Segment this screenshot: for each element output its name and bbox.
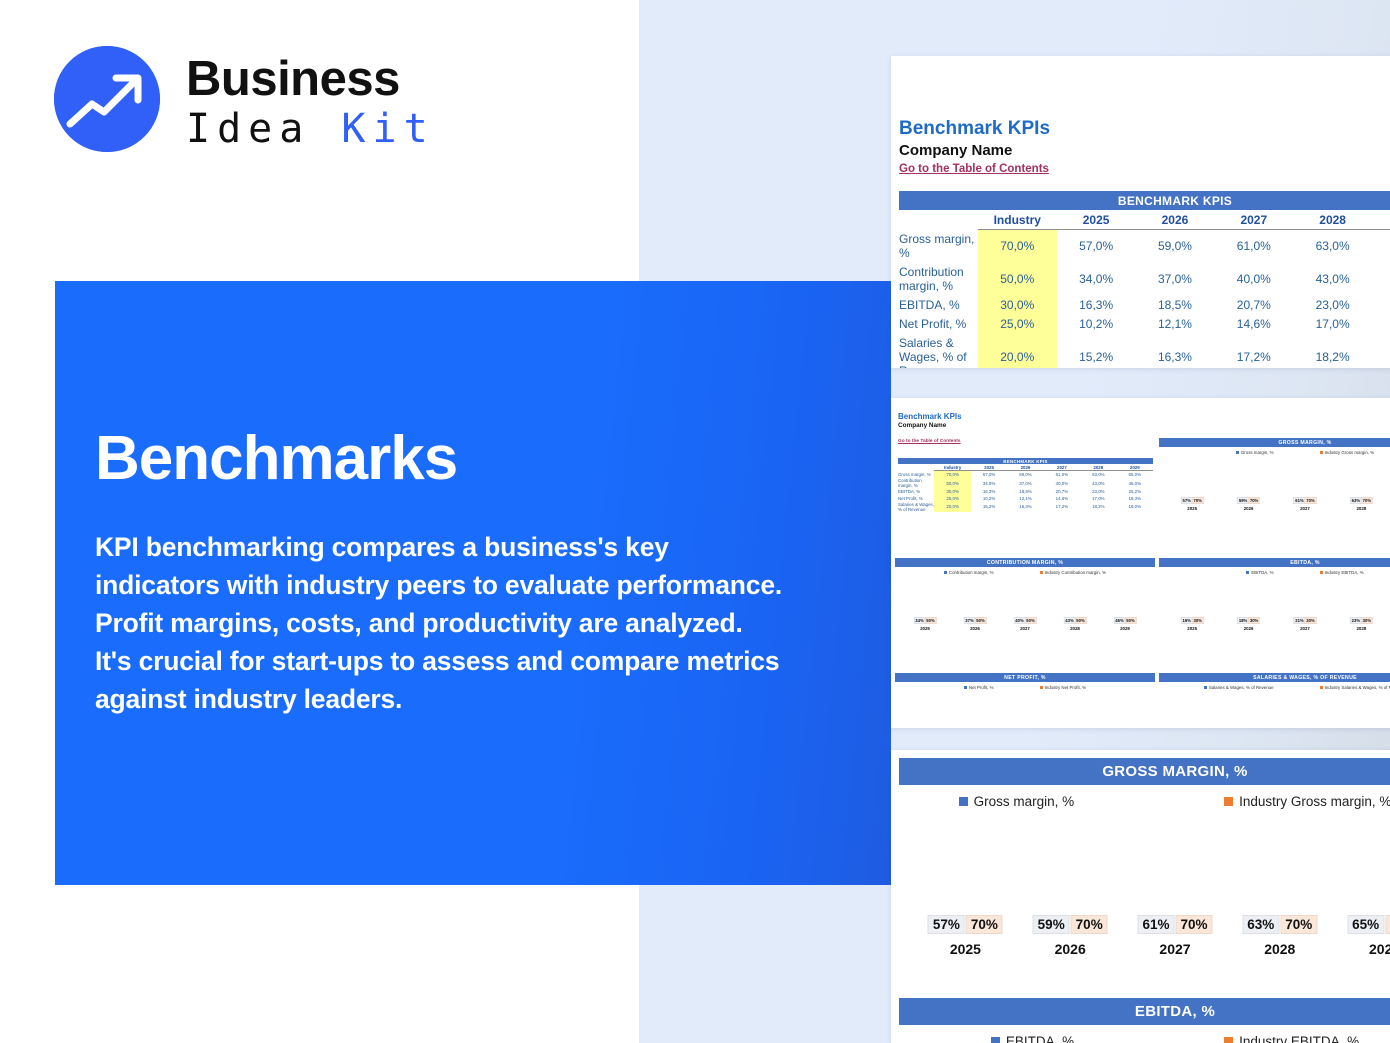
year-value: 65,0% bbox=[1372, 230, 1390, 263]
legend-label: Industry Salaries & Wages, % of Revenue bbox=[1325, 685, 1390, 690]
bar-group: 18%30%2026 bbox=[1238, 624, 1260, 631]
x-axis-label: 2027 bbox=[1137, 941, 1213, 957]
year-value: 15,2% bbox=[1057, 334, 1136, 369]
legend-item: Industry Net Profit, % bbox=[1040, 685, 1086, 690]
table-row: Salaries & Wages, % of Revenue20,0%15,2%… bbox=[899, 334, 1390, 369]
year-value: 65,0% bbox=[1117, 471, 1153, 478]
x-axis-label: 2026 bbox=[1238, 626, 1260, 631]
document-preview-table[interactable]: Benchmark KPIs Company Name Go to the Ta… bbox=[891, 56, 1390, 368]
bar-data-label: 30% bbox=[1361, 617, 1373, 624]
year-value: 34,0% bbox=[1057, 263, 1136, 296]
year-value: 23,0% bbox=[1293, 296, 1372, 315]
row-label: Salaries & Wages, % of Revenue bbox=[899, 334, 978, 369]
year-value: 59,0% bbox=[1136, 230, 1215, 263]
x-axis-label: 2029 bbox=[1114, 626, 1136, 631]
bar-data-label: 70% bbox=[966, 915, 1003, 934]
chart-legend: Gross margin, %Industry Gross margin, % bbox=[1159, 447, 1390, 455]
bar-group: 57%70%2025 bbox=[1181, 504, 1203, 511]
chart-title: EBITDA, % bbox=[1159, 558, 1390, 567]
chart-legend: EBITDA, %Industry EBITDA, % bbox=[1159, 567, 1390, 575]
bar-data-label: 70% bbox=[1280, 915, 1317, 934]
col-header: 2027 bbox=[1044, 464, 1080, 471]
table-row: Contribution margin, %50,0%34,0%37,0%40,… bbox=[899, 263, 1390, 296]
x-axis-label: 2025 bbox=[927, 941, 1003, 957]
table-row: EBITDA, %30,0%16,3%18,5%20,7%23,0%25,2% bbox=[899, 296, 1390, 315]
bar-group: 63%70%2028 bbox=[1242, 934, 1318, 957]
chart-title: EBITDA, % bbox=[899, 998, 1390, 1025]
bar-data-label: 65% bbox=[1347, 915, 1384, 934]
benchmark-kpi-table-mini: BENCHMARK KPISIndustry202520262027202820… bbox=[898, 458, 1153, 512]
year-value: 18,2% bbox=[1293, 334, 1372, 369]
col-header: 2028 bbox=[1080, 464, 1116, 471]
col-header: 2028 bbox=[1293, 210, 1372, 230]
legend-label: Industry EBITDA, % bbox=[1239, 1034, 1359, 1043]
col-header: 2025 bbox=[971, 464, 1007, 471]
legend-swatch bbox=[1224, 797, 1233, 806]
benchmark-kpi-table: BENCHMARK KPISIndustry202520262027202820… bbox=[899, 191, 1390, 368]
row-label: Contribution margin, % bbox=[899, 263, 978, 296]
legend-swatch bbox=[944, 571, 947, 574]
row-label: Net Profit, % bbox=[899, 315, 978, 334]
bar-data-label: 30% bbox=[1191, 617, 1203, 624]
table-band-row: BENCHMARK KPIS bbox=[899, 191, 1390, 210]
bar-group: 63%70%2028 bbox=[1350, 504, 1372, 511]
year-value: 63,0% bbox=[1080, 471, 1116, 478]
industry-value: 50,0% bbox=[934, 478, 970, 489]
year-value: 57,0% bbox=[971, 471, 1007, 478]
year-value: 12,1% bbox=[1136, 315, 1215, 334]
bar-group: 40%50%2027 bbox=[1014, 624, 1036, 631]
legend-item: Industry Salaries & Wages, % of Revenue bbox=[1320, 685, 1390, 690]
legend-label: Gross margin, % bbox=[974, 794, 1075, 809]
bar-data-label: 30% bbox=[1248, 617, 1260, 624]
legend-swatch bbox=[1040, 571, 1043, 574]
chart-legend: Salaries & Wages, % of RevenueIndustry S… bbox=[1159, 682, 1390, 690]
legend-swatch bbox=[1040, 686, 1043, 689]
year-value: 61,0% bbox=[1214, 230, 1293, 263]
bar-data-label: 70% bbox=[1191, 497, 1203, 504]
bar-data-label: 70% bbox=[1361, 497, 1373, 504]
x-axis-label: 2026 bbox=[964, 626, 986, 631]
year-value: 19,0% bbox=[1372, 334, 1390, 369]
bar-data-label: 70% bbox=[1175, 915, 1212, 934]
x-axis-label: 2027 bbox=[1294, 506, 1316, 511]
legend-swatch bbox=[1236, 451, 1239, 454]
chart-ebitda-mini[interactable]: EBITDA, %EBITDA, %Industry EBITDA, %16%3… bbox=[1159, 558, 1390, 631]
bar-group: 65%70%2029 bbox=[1347, 934, 1390, 957]
x-axis-label: 2029 bbox=[1347, 941, 1390, 957]
chart-title: CONTRIBUTION MARGIN, % bbox=[895, 558, 1155, 567]
year-value: 40,0% bbox=[1214, 263, 1293, 296]
legend-label: Net Profit, % bbox=[969, 685, 994, 690]
year-value: 19,3% bbox=[1372, 315, 1390, 334]
chart-net-profit-mini[interactable]: NET PROFIT, %Net Profit, %Industry Net P… bbox=[895, 673, 1155, 690]
brand-idea: Idea bbox=[186, 106, 341, 152]
year-value: 16,3% bbox=[1136, 334, 1215, 369]
bar-data-label: 70% bbox=[1248, 497, 1260, 504]
year-value: 46,0% bbox=[1117, 478, 1153, 489]
industry-value: 70,0% bbox=[934, 471, 970, 478]
legend-item: Net Profit, % bbox=[964, 685, 994, 690]
hero-description: KPI benchmarking compares a business's k… bbox=[95, 528, 785, 718]
table-row: Net Profit, %25,0%10,2%12,1%14,6%17,0%19… bbox=[899, 315, 1390, 334]
legend-label: Industry Net Profit, % bbox=[1045, 685, 1086, 690]
chart-legend: EBITDA, %Industry EBITDA, % bbox=[899, 1025, 1390, 1043]
brand-logo[interactable]: Business Idea Kit bbox=[54, 46, 454, 158]
x-axis-label: 2028 bbox=[1350, 626, 1372, 631]
bar-data-label: 70% bbox=[1071, 915, 1108, 934]
bar-data-label: 50% bbox=[924, 617, 936, 624]
year-value: 25,2% bbox=[1372, 296, 1390, 315]
year-value: 40,0% bbox=[1044, 478, 1080, 489]
chart-title: SALARIES & WAGES, % OF REVENUE bbox=[1159, 673, 1390, 682]
row-label: EBITDA, % bbox=[899, 296, 978, 315]
year-value: 46,0% bbox=[1372, 263, 1390, 296]
legend-label: Salaries & Wages, % of Revenue bbox=[1209, 685, 1274, 690]
chart-salaries-wages-mini[interactable]: SALARIES & WAGES, % OF REVENUESalaries &… bbox=[1159, 673, 1390, 690]
bar-data-label: 70% bbox=[1304, 497, 1316, 504]
row-label: Contribution margin, % bbox=[898, 478, 934, 489]
legend-item: Salaries & Wages, % of Revenue bbox=[1204, 685, 1274, 690]
col-header: Industry bbox=[978, 210, 1057, 230]
chart-legend: Gross margin, %Industry Gross margin, % bbox=[899, 785, 1390, 809]
brand-kit: Kit bbox=[341, 106, 434, 152]
slide-canvas: Business Idea Kit Benchmarks KPI benchma… bbox=[0, 0, 1390, 1043]
industry-value: 50,0% bbox=[978, 263, 1057, 296]
bar-group: 34%50%2025 bbox=[914, 624, 936, 631]
legend-swatch bbox=[1320, 571, 1323, 574]
x-axis-label: 2025 bbox=[914, 626, 936, 631]
x-axis-label: 2025 bbox=[1181, 626, 1203, 631]
year-value: 43,0% bbox=[1293, 263, 1372, 296]
year-value: 16,3% bbox=[1007, 501, 1043, 512]
year-value: 17,2% bbox=[1214, 334, 1293, 369]
document-preview-dashboard[interactable]: Benchmark KPIs Company Name Go to the Ta… bbox=[891, 398, 1390, 728]
bar-data-label: 57% bbox=[928, 915, 965, 934]
chart-legend: Contribution margin, %Industry Contribut… bbox=[895, 567, 1155, 575]
bar-group: 61%70%2027 bbox=[1137, 934, 1213, 957]
growth-arrow-icon bbox=[54, 46, 160, 152]
sheet-title-mini: Benchmark KPIs bbox=[898, 412, 1390, 421]
bar-data-label: 50% bbox=[1124, 617, 1136, 624]
industry-value: 20,0% bbox=[978, 334, 1057, 369]
bar-data-label: 59% bbox=[1033, 915, 1070, 934]
year-value: 61,0% bbox=[1044, 471, 1080, 478]
year-value: 43,0% bbox=[1080, 478, 1116, 489]
bar-group: 16%30%2025 bbox=[1181, 624, 1203, 631]
col-header: 2026 bbox=[1136, 210, 1215, 230]
x-axis-label: 2028 bbox=[1350, 506, 1372, 511]
sheet-company: Company Name bbox=[899, 142, 1390, 159]
chart-title: NET PROFIT, % bbox=[895, 673, 1155, 682]
legend-swatch bbox=[991, 1037, 1000, 1043]
x-axis-label: 2027 bbox=[1294, 626, 1316, 631]
table-row: Contribution margin, %50,0%34,0%37,0%40,… bbox=[898, 478, 1153, 489]
bar-group: 21%30%2027 bbox=[1294, 624, 1316, 631]
industry-value: 30,0% bbox=[978, 296, 1057, 315]
bar-data-label: 50% bbox=[1074, 617, 1086, 624]
chart-plot-area: 57%70%202559%70%202661%70%202763%70%2028… bbox=[899, 809, 1390, 957]
year-value: 14,6% bbox=[1214, 315, 1293, 334]
toc-link-mini[interactable]: Go to the Table of Contents bbox=[898, 439, 961, 444]
year-value: 20,7% bbox=[1214, 296, 1293, 315]
bar-group: 46%50%2029 bbox=[1114, 624, 1136, 631]
legend-item: Industry EBITDA, % bbox=[1224, 1034, 1359, 1043]
legend-swatch bbox=[959, 797, 968, 806]
legend-swatch bbox=[1224, 1037, 1233, 1043]
table-row: Gross margin, %70,0%57,0%59,0%61,0%63,0%… bbox=[898, 471, 1153, 478]
table-row: Gross margin, %70,0%57,0%59,0%61,0%63,0%… bbox=[899, 230, 1390, 263]
sheet-company-mini: Company Name bbox=[898, 422, 1390, 429]
chart-legend: Net Profit, %Industry Net Profit, % bbox=[895, 682, 1155, 690]
bar-data-label: 63% bbox=[1242, 915, 1279, 934]
chart-gross-margin-mini[interactable]: GROSS MARGIN, %Gross margin, %Industry G… bbox=[1159, 438, 1390, 511]
x-axis-label: 2028 bbox=[1242, 941, 1318, 957]
year-value: 63,0% bbox=[1293, 230, 1372, 263]
bar-data-label: 70% bbox=[1385, 915, 1390, 934]
page-title: Benchmarks bbox=[95, 424, 785, 494]
bar-data-label: 61% bbox=[1137, 915, 1174, 934]
year-value: 37,0% bbox=[1007, 478, 1043, 489]
row-label: Gross margin, % bbox=[899, 230, 978, 263]
legend-swatch bbox=[1204, 686, 1207, 689]
bar-group: 61%70%2027 bbox=[1294, 504, 1316, 511]
brand-line-ideakit: Idea Kit bbox=[186, 106, 435, 152]
bar-group: 43%50%2028 bbox=[1064, 624, 1086, 631]
year-value: 16,3% bbox=[1057, 296, 1136, 315]
x-axis-label: 2027 bbox=[1014, 626, 1036, 631]
legend-swatch bbox=[1320, 451, 1323, 454]
row-label: Salaries & Wages, % of Revenue bbox=[898, 501, 934, 512]
table-band-label: BENCHMARK KPIS bbox=[899, 191, 1390, 210]
brand-wordmark: Business Idea Kit bbox=[186, 52, 435, 152]
col-header: 2025 bbox=[1057, 210, 1136, 230]
legend-swatch bbox=[1320, 686, 1323, 689]
brand-line-business: Business bbox=[186, 52, 435, 106]
year-value: 19,0% bbox=[1117, 501, 1153, 512]
col-header: 2027 bbox=[1214, 210, 1293, 230]
chart-plot-area: 57%70%202559%70%202661%70%202763%70%2028… bbox=[1159, 455, 1390, 511]
bar-group: 59%70%2026 bbox=[1238, 504, 1260, 511]
x-axis-label: 2025 bbox=[1181, 506, 1203, 511]
bar-data-label: 50% bbox=[1024, 617, 1036, 624]
legend-label: Industry Gross margin, % bbox=[1239, 794, 1390, 809]
x-axis-label: 2026 bbox=[1032, 941, 1108, 957]
year-value: 15,2% bbox=[971, 501, 1007, 512]
col-header bbox=[898, 464, 934, 471]
bar-group: 57%70%2025 bbox=[927, 934, 1003, 957]
legend-item: EBITDA, % bbox=[991, 1034, 1074, 1043]
bar-data-label: 50% bbox=[974, 617, 986, 624]
toc-link[interactable]: Go to the Table of Contents bbox=[899, 163, 1049, 175]
col-header: 2029 bbox=[1117, 464, 1153, 471]
industry-value: 70,0% bbox=[978, 230, 1057, 263]
col-header bbox=[899, 210, 978, 230]
bar-group: 37%50%2026 bbox=[964, 624, 986, 631]
year-value: 17,0% bbox=[1293, 315, 1372, 334]
sheet-title: Benchmark KPIs bbox=[899, 118, 1390, 140]
bar-group: 23%30%2028 bbox=[1350, 624, 1372, 631]
industry-value: 25,0% bbox=[978, 315, 1057, 334]
year-value: 59,0% bbox=[1007, 471, 1043, 478]
year-value: 17,2% bbox=[1044, 501, 1080, 512]
x-axis-label: 2026 bbox=[1238, 506, 1260, 511]
table-header-row: Industry20252026202720282029 bbox=[898, 464, 1153, 471]
chart-title: GROSS MARGIN, % bbox=[1159, 438, 1390, 447]
col-header: Industry bbox=[934, 464, 970, 471]
year-value: 18,5% bbox=[1136, 296, 1215, 315]
col-header: 2029 bbox=[1372, 210, 1390, 230]
chart-ebitda-large-header[interactable]: EBITDA, %EBITDA, %Industry EBITDA, % bbox=[899, 998, 1390, 1043]
chart-gross-margin-large[interactable]: GROSS MARGIN, %Gross margin, %Industry G… bbox=[899, 758, 1390, 957]
bar-group: 59%70%2026 bbox=[1032, 934, 1108, 957]
year-value: 57,0% bbox=[1057, 230, 1136, 263]
chart-contribution-margin-mini[interactable]: CONTRIBUTION MARGIN, %Contribution margi… bbox=[895, 558, 1155, 631]
legend-item: Industry Gross margin, % bbox=[1224, 794, 1390, 809]
legend-swatch bbox=[964, 686, 967, 689]
legend-swatch bbox=[1246, 571, 1249, 574]
bar-data-label: 30% bbox=[1304, 617, 1316, 624]
legend-item: Gross margin, % bbox=[959, 794, 1075, 809]
chart-title: GROSS MARGIN, % bbox=[899, 758, 1390, 785]
chart-plot-area: 16%30%202518%30%202621%30%202723%30%2028… bbox=[1159, 575, 1390, 631]
row-label: Gross margin, % bbox=[898, 471, 934, 478]
year-value: 10,2% bbox=[1057, 315, 1136, 334]
document-preview-chart[interactable]: GROSS MARGIN, %Gross margin, %Industry G… bbox=[891, 750, 1390, 1043]
col-header: 2026 bbox=[1007, 464, 1043, 471]
x-axis-label: 2028 bbox=[1064, 626, 1086, 631]
table-row: Salaries & Wages, % of Revenue20,0%15,2%… bbox=[898, 501, 1153, 512]
hero-text-block: Benchmarks KPI benchmarking compares a b… bbox=[95, 424, 785, 718]
chart-plot-area: 34%50%202537%50%202640%50%202743%50%2028… bbox=[895, 575, 1155, 631]
year-value: 37,0% bbox=[1136, 263, 1215, 296]
industry-value: 20,0% bbox=[934, 501, 970, 512]
table-header-row: Industry20252026202720282029 bbox=[899, 210, 1390, 230]
year-value: 18,2% bbox=[1080, 501, 1116, 512]
legend-label: EBITDA, % bbox=[1006, 1034, 1074, 1043]
year-value: 34,0% bbox=[971, 478, 1007, 489]
